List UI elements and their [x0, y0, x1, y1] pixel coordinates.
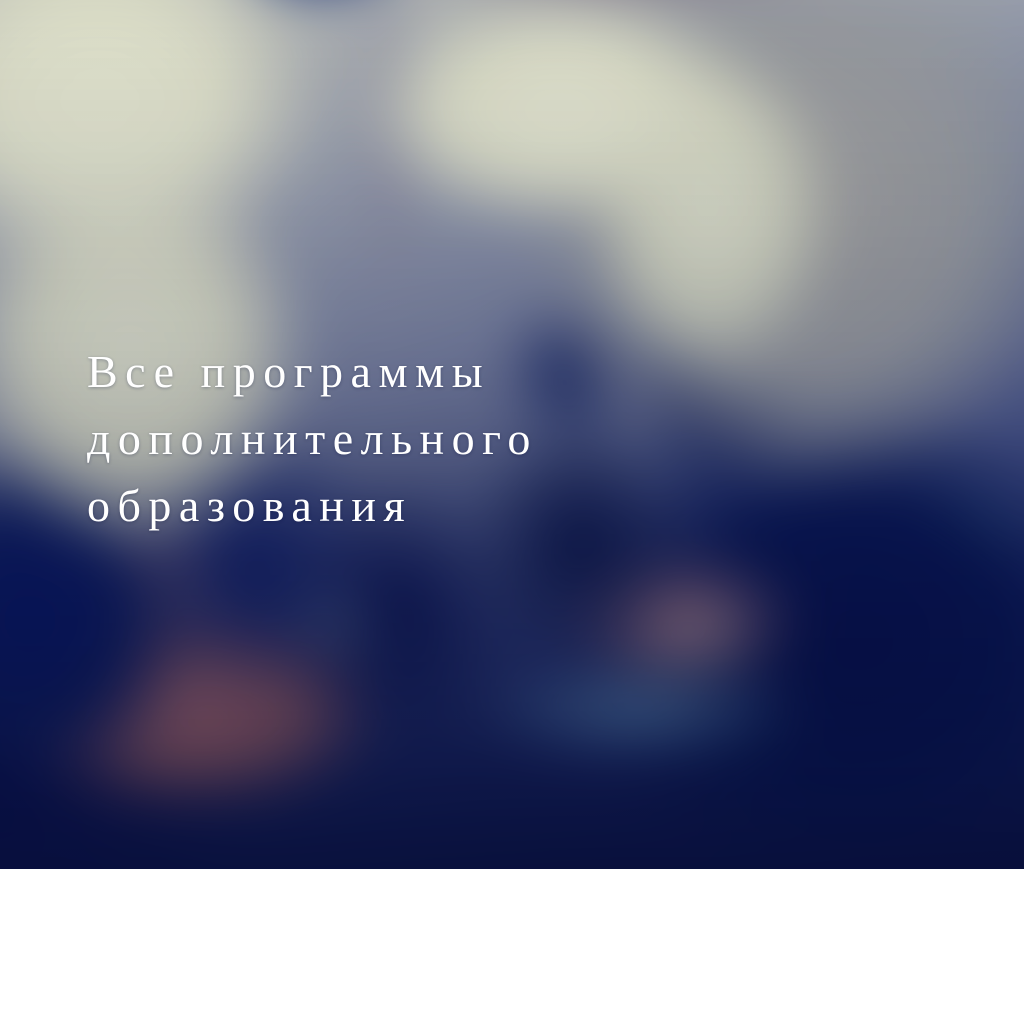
hero-image: Все программы дополнительного образовани…: [0, 0, 1024, 869]
promo-poster: Все программы дополнительного образовани…: [0, 0, 1024, 1024]
page-title: Все программы дополнительного образовани…: [87, 338, 847, 539]
footer-white-band: [0, 869, 1024, 1024]
